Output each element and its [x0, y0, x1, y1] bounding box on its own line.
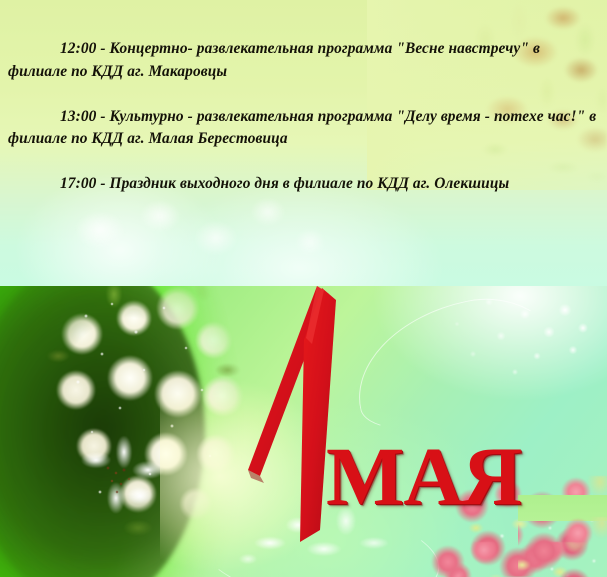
may-day-banner: МАЯ	[0, 286, 607, 577]
title-group: МАЯ	[0, 286, 607, 577]
month-word-title: МАЯ	[326, 436, 521, 517]
schedule-item: 12:00 - Концертно- развлекательная прогр…	[8, 0, 599, 84]
greeting-card-page: 12:00 - Концертно- развлекательная прогр…	[0, 0, 607, 577]
schedule-item: 17:00 - Праздник выходного дня в филиале…	[8, 151, 599, 196]
schedule-list: 12:00 - Концертно- развлекательная прогр…	[0, 0, 607, 196]
schedule-section: 12:00 - Концертно- развлекательная прогр…	[0, 0, 607, 286]
white-lily-backdrop-icon	[40, 190, 370, 286]
schedule-item: 13:00 - Культурно - развлекательная прог…	[8, 84, 599, 152]
